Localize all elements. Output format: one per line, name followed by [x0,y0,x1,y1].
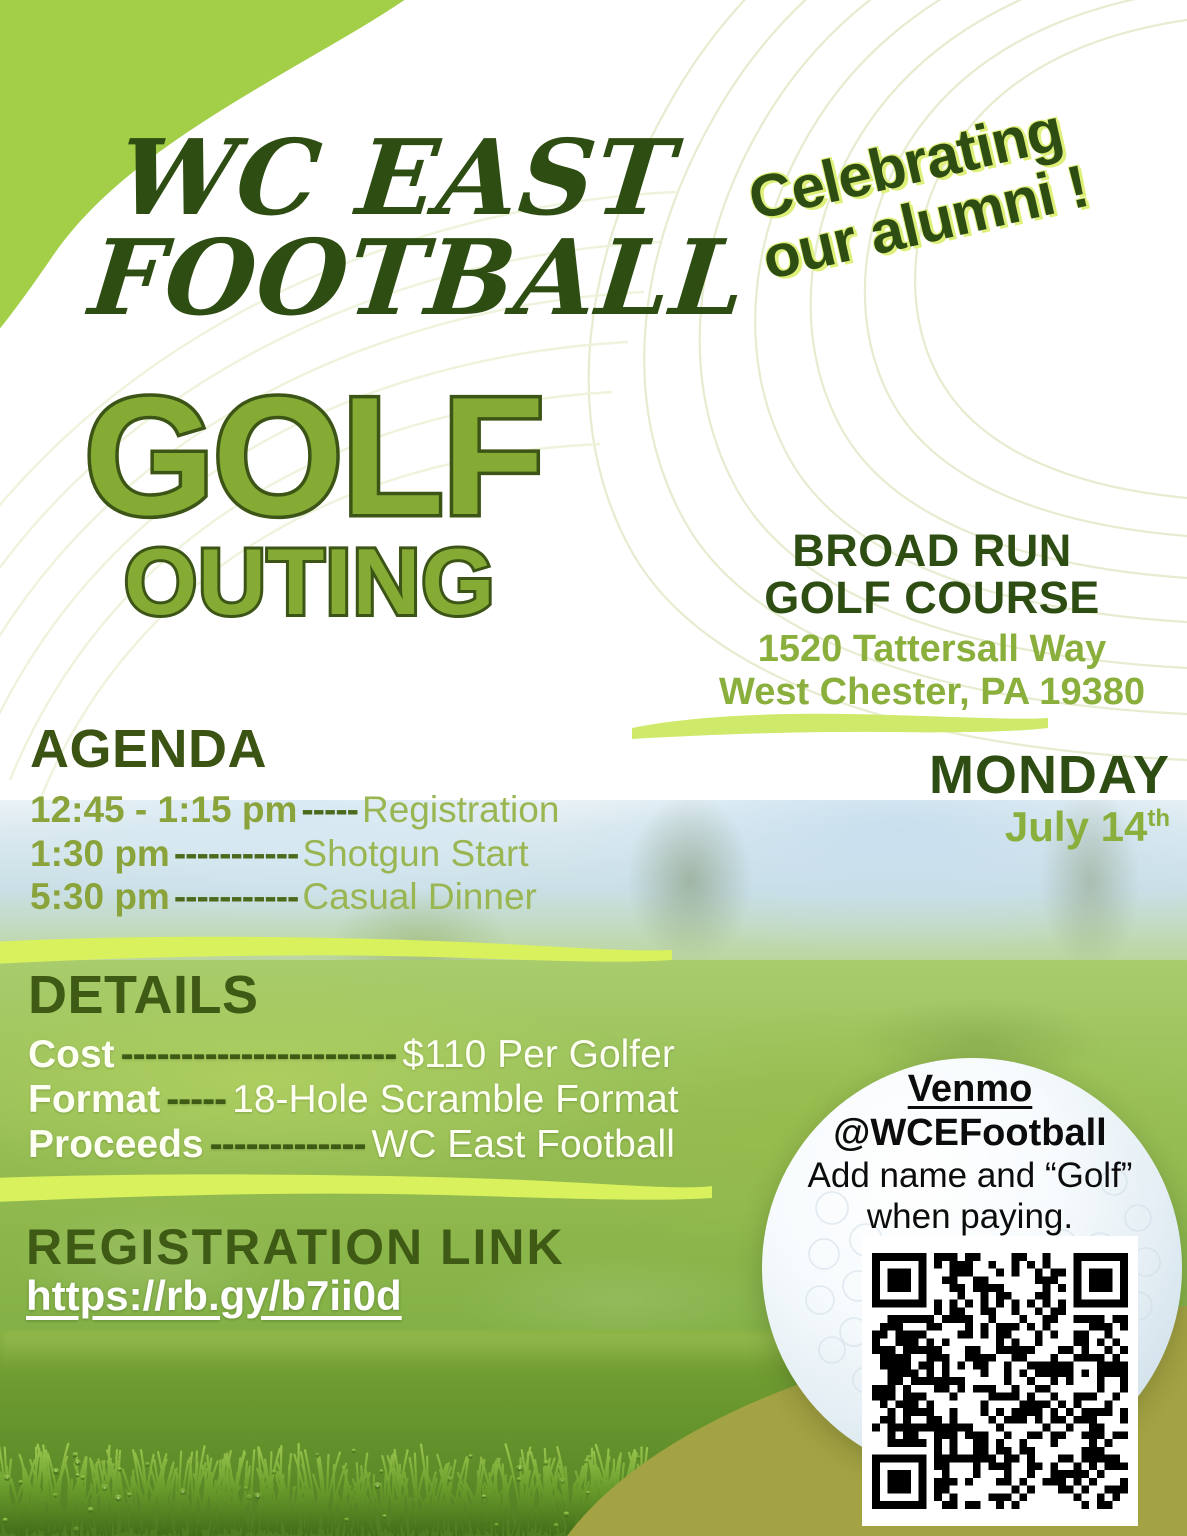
title-line-2: FOOTBALL [82,228,732,328]
venmo-handle: @WCEFootball [795,1111,1145,1157]
agenda-section: AGENDA 12:45 - 1:15 pm ----- Registratio… [30,722,670,919]
details-dashes: ----------------------- [115,1032,403,1077]
details-dashes: ----- [160,1077,232,1122]
venue-address: 1520 Tattersall Way West Chester, PA 193… [687,628,1177,715]
outing-word: OUTING [124,540,496,625]
details-label: Cost [28,1032,115,1077]
event-month-day: July 14 [1005,803,1147,850]
agenda-dashes: ----------- [170,875,303,919]
venue-name-line-1: BROAD RUN [687,528,1177,575]
agenda-time: 5:30 pm [30,875,170,919]
list-item: 12:45 - 1:15 pm ----- Registration [30,788,670,832]
details-value: $110 Per Golfer [402,1032,674,1077]
details-label: Proceeds [28,1122,204,1167]
list-item: Proceeds ------------- WC East Football [28,1122,708,1167]
venue-address-line-2: West Chester, PA 19380 [687,671,1177,714]
venue-name-line-2: GOLF COURSE [687,575,1177,622]
venmo-title: Venmo [795,1068,1145,1111]
agenda-time: 12:45 - 1:15 pm [30,788,297,832]
golf-word: GOLF [84,388,543,526]
venue-block: BROAD RUN GOLF COURSE 1520 Tattersall Wa… [687,528,1177,714]
brush-stroke-icon-details [0,930,674,970]
title-line-1: WC EAST [92,128,742,228]
brush-stroke-icon-registration [0,1168,714,1210]
event-day: MONDAY [700,748,1170,802]
list-item: Format ----- 18-Hole Scramble Format [28,1077,708,1122]
agenda-dashes: ----- [297,788,362,832]
agenda-time: 1:30 pm [30,832,170,876]
page-title: WC EAST FOOTBALL [82,128,743,328]
details-value: WC East Football [371,1122,674,1167]
venmo-note-line-1: Add name and “Golf” [795,1156,1145,1197]
agenda-label: Casual Dinner [302,875,536,919]
qr-code-matrix [872,1246,1128,1516]
venmo-block: Venmo @WCEFootball Add name and “Golf” w… [795,1068,1145,1237]
details-section: DETAILS Cost ----------------------- $11… [28,968,708,1168]
details-dashes: ------------- [204,1122,372,1167]
date-block: MONDAY July 14th [700,748,1170,850]
agenda-dashes: ----------- [170,832,303,876]
qr-code-icon[interactable] [862,1236,1138,1526]
agenda-heading: AGENDA [30,722,670,776]
agenda-label: Shotgun Start [302,832,528,876]
registration-section: REGISTRATION LINK https://rb.gy/b7ii0d [26,1222,726,1320]
agenda-label: Registration [362,788,559,832]
venue-name: BROAD RUN GOLF COURSE [687,528,1177,622]
venmo-note-line-2: when paying. [795,1197,1145,1238]
details-value: 18-Hole Scramble Format [232,1077,678,1122]
registration-heading: REGISTRATION LINK [26,1222,726,1272]
registration-link[interactable]: https://rb.gy/b7ii0d [26,1272,402,1319]
details-label: Format [28,1077,160,1122]
list-item: Cost ----------------------- $110 Per Go… [28,1032,708,1077]
details-heading: DETAILS [28,968,708,1022]
event-date-ordinal: th [1147,805,1170,832]
agenda-rows: 12:45 - 1:15 pm ----- Registration 1:30 … [30,788,670,919]
list-item: 5:30 pm ----------- Casual Dinner [30,875,670,919]
details-rows: Cost ----------------------- $110 Per Go… [28,1032,708,1168]
list-item: 1:30 pm ----------- Shotgun Start [30,832,670,876]
event-date: July 14th [700,804,1170,850]
golf-outing-flyer: WC EAST FOOTBALL GOLF OUTING Celebrating… [0,0,1187,1536]
venue-address-line-1: 1520 Tattersall Way [687,628,1177,671]
